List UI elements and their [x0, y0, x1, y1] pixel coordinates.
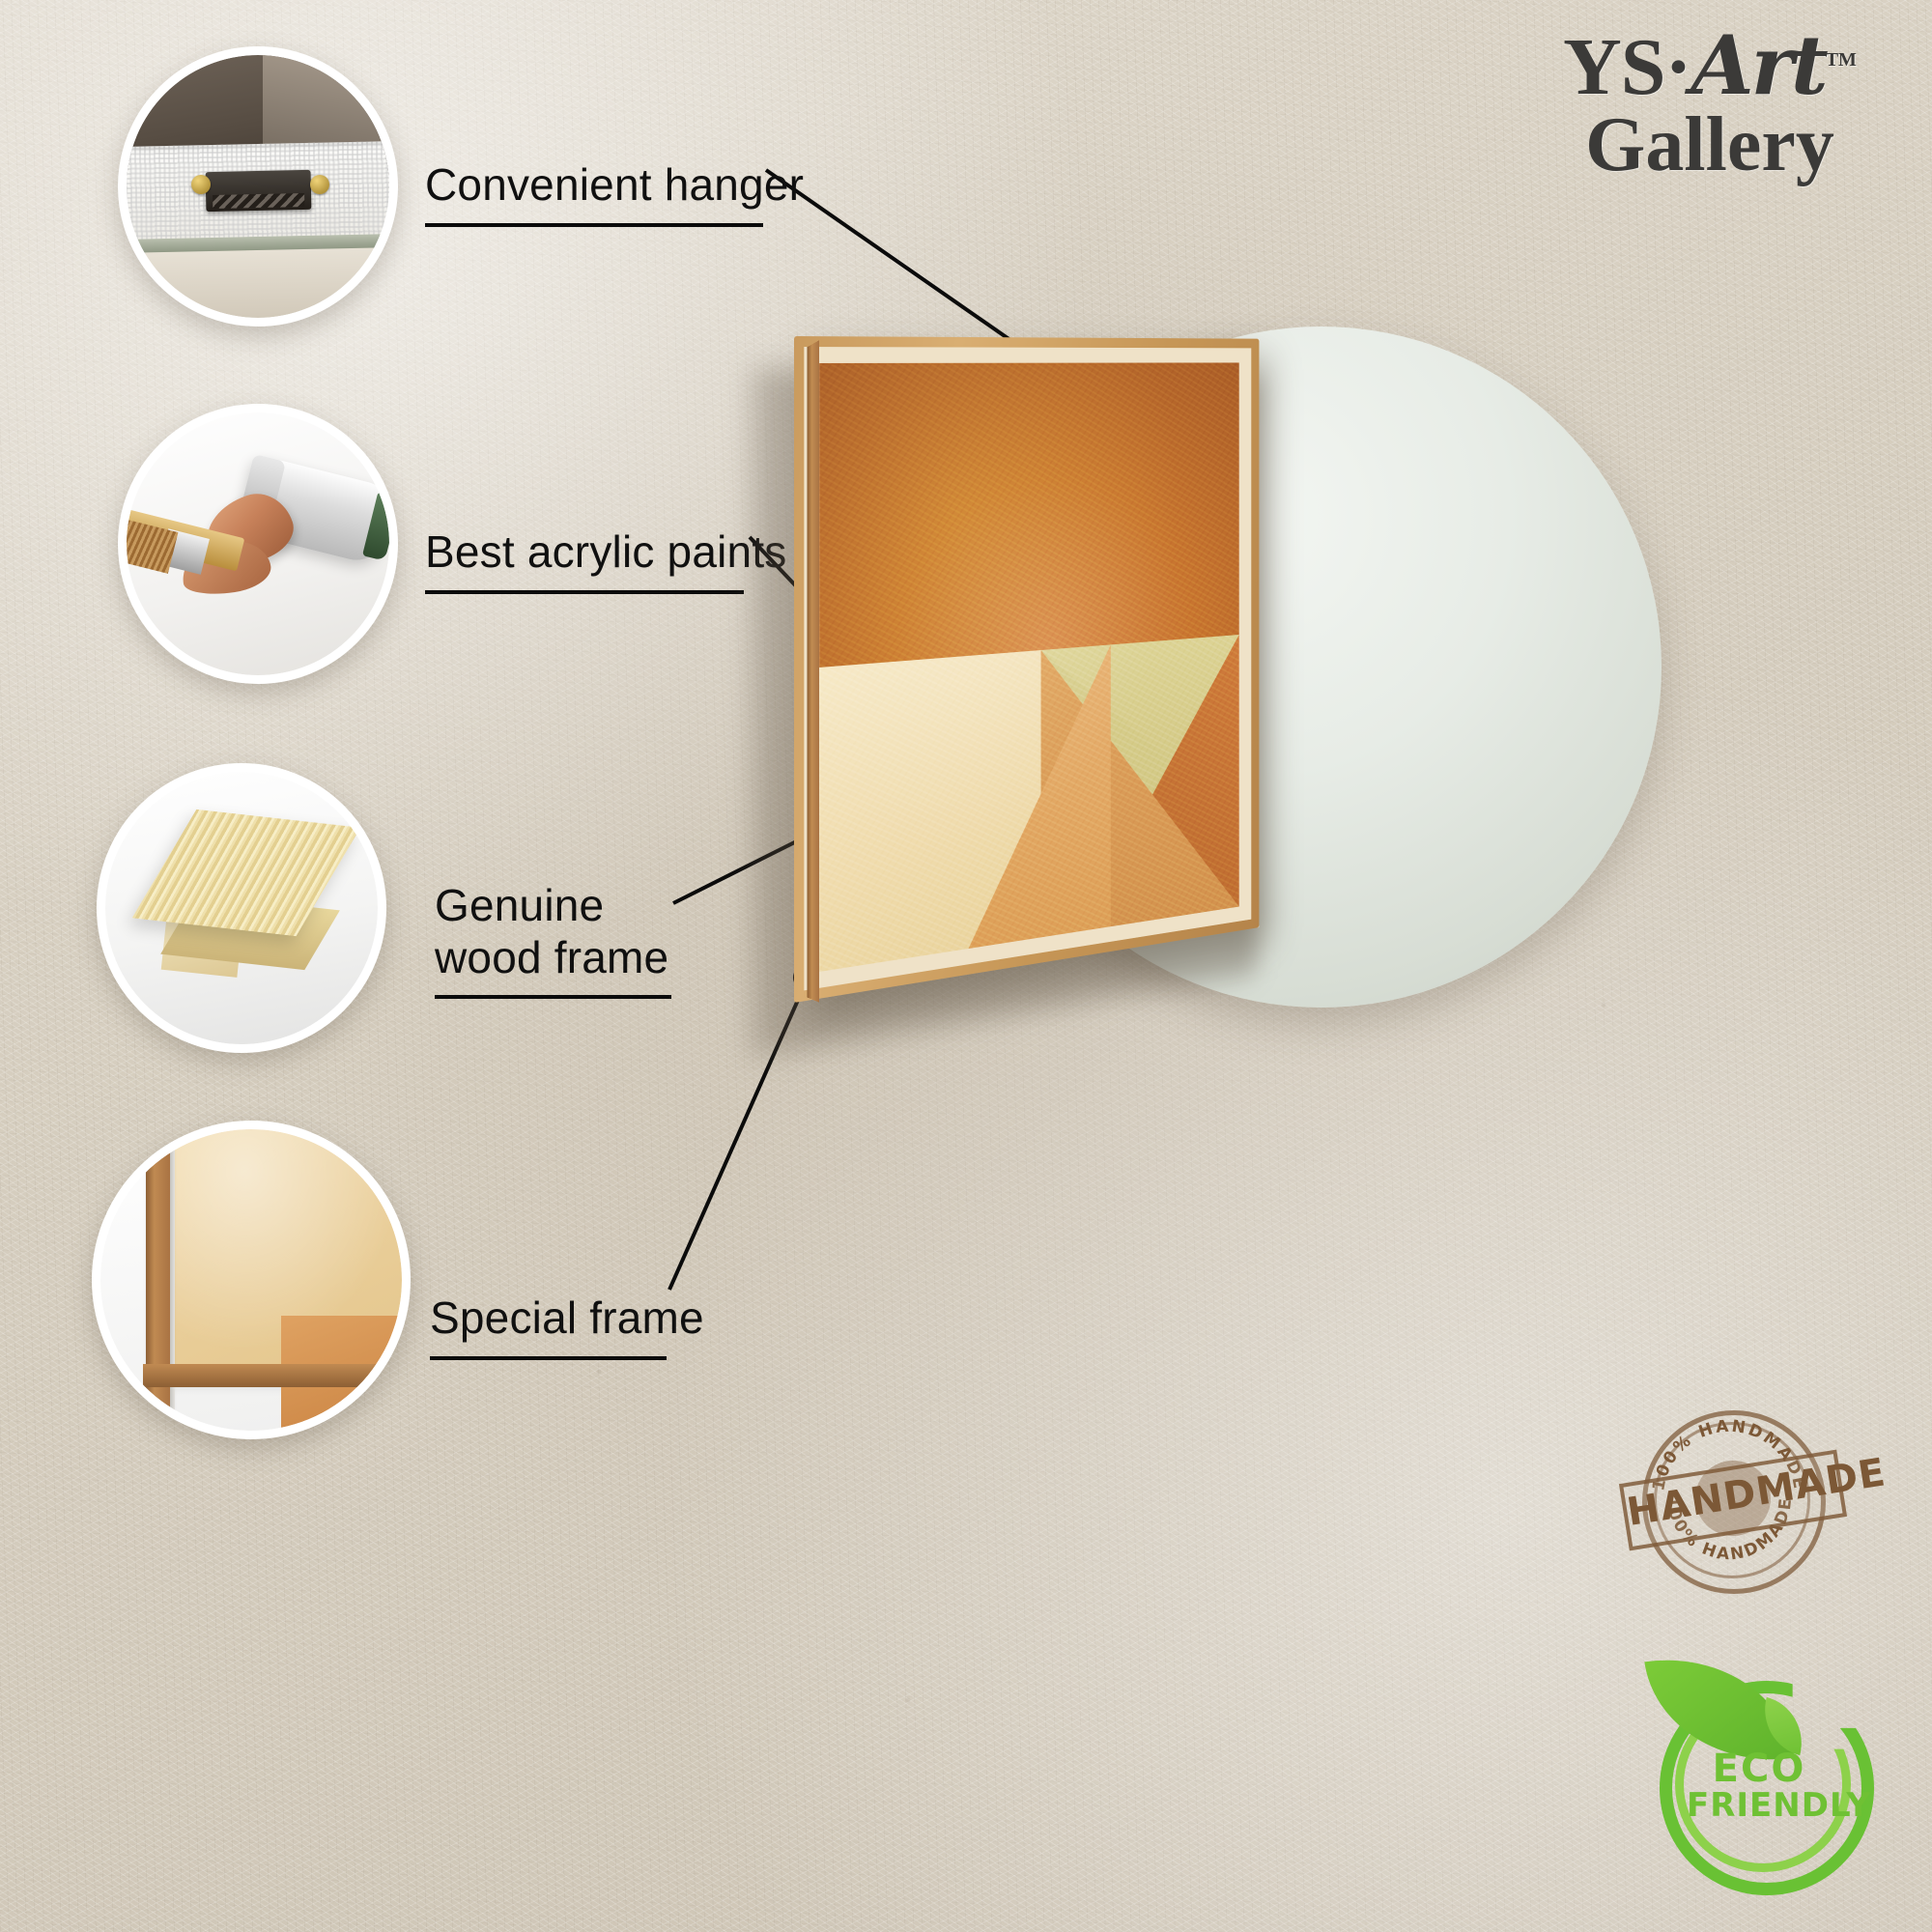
handmade-stamp: 100% HANDMADE 100% HANDMADE HANDMADE — [1604, 1401, 1855, 1633]
feature-label-text: Special frame — [430, 1293, 704, 1343]
label-underline — [430, 1356, 667, 1360]
eco-text-line-2: FRIENDLY — [1687, 1789, 1832, 1824]
feature-label-best-acrylic-paints: Best acrylic paints — [425, 475, 787, 645]
label-underline — [425, 223, 763, 227]
feature-label-text: Genuine wood frame — [435, 880, 668, 981]
eco-friendly-badge: ECO FRIENDLY — [1642, 1660, 1869, 1887]
feature-label-convenient-hanger: Convenient hanger — [425, 108, 804, 278]
feature-label-text: Best acrylic paints — [425, 526, 787, 577]
shape-terracotta-semicircle — [819, 362, 1239, 668]
painting-canvas — [819, 362, 1239, 972]
wood-floater-frame — [794, 336, 1259, 1003]
feature-label-special-frame: Special frame — [430, 1241, 704, 1411]
product-scene — [734, 290, 1526, 1063]
frame-liner — [804, 347, 1251, 990]
label-underline — [425, 590, 744, 594]
abstract-geometric-painting[interactable] — [794, 336, 1259, 1003]
eco-text-line-1: ECO — [1687, 1748, 1832, 1789]
frame-side-edge — [807, 340, 819, 1003]
label-underline — [435, 995, 671, 999]
feature-label-text: Convenient hanger — [425, 159, 804, 210]
feature-label-genuine-wood-frame: Genuine wood frame — [435, 829, 671, 1050]
eco-badge-text: ECO FRIENDLY — [1687, 1748, 1832, 1824]
